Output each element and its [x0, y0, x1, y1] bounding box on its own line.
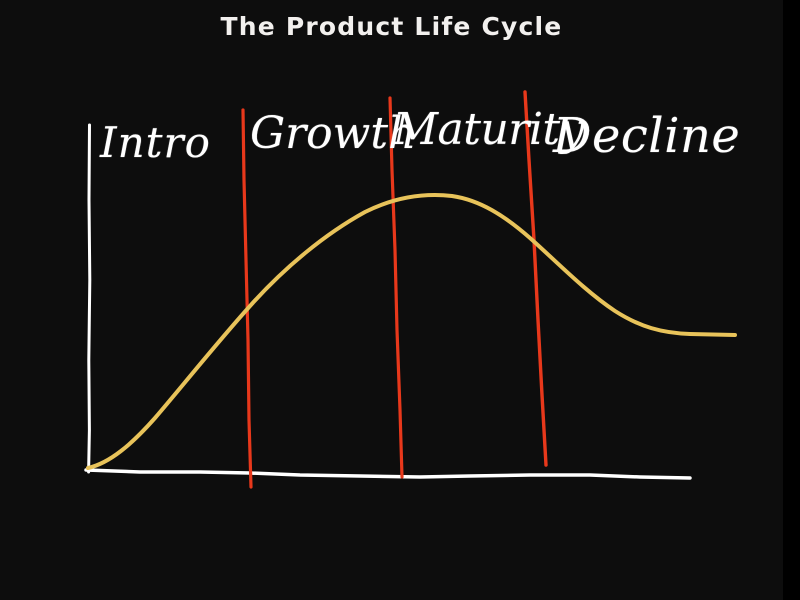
stage-label-intro: Intro	[100, 118, 211, 167]
x-axis-line	[86, 470, 690, 478]
chart-canvas	[0, 0, 800, 600]
letterbox-bar-right	[783, 0, 800, 600]
stage-label-growth: Growth	[250, 108, 416, 159]
divider-intro-growth	[243, 110, 251, 487]
life-cycle-curve	[88, 195, 735, 468]
product-life-cycle-slide: The Product Life Cycle Intro Growth Matu…	[0, 0, 800, 600]
stage-label-decline: Decline	[553, 108, 740, 164]
y-axis-line	[89, 125, 90, 472]
